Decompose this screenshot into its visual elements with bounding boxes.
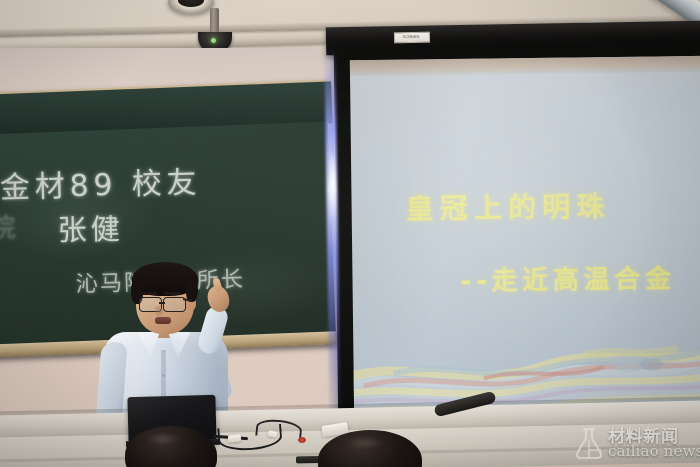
audience-head-highlight [146, 432, 180, 446]
chalk-piece [228, 434, 242, 442]
red-marker-cap [298, 437, 306, 443]
blackboard-ghost-text: 院 [0, 207, 19, 245]
light-leak-core [330, 150, 336, 220]
shirt-button [162, 374, 165, 377]
blackboard-line-1: 金材89 校友 [0, 157, 202, 207]
eyeglasses-bridge [159, 302, 165, 304]
watermark-sub: NEWS [578, 457, 592, 462]
projection-screen: 皇冠上的明珠 --走近高温合金 [350, 56, 700, 418]
blackboard-line-2: 张健 [57, 206, 124, 249]
speaker-mouth [155, 317, 171, 324]
watermark: 材料新闻 cailiao news NEWS [572, 424, 700, 464]
speaker-nose [155, 306, 163, 316]
flask-icon [572, 426, 606, 460]
speaker-eyebrow-left [140, 292, 157, 295]
camera-led-indicator [211, 38, 216, 43]
watermark-english: cailiao news [608, 442, 700, 460]
audience-head-highlight [348, 436, 384, 450]
speaker-eyebrow-right [164, 292, 181, 295]
screen-label-text: SCREEN [396, 33, 426, 41]
classroom-lecture-photo: 院 金材89 校友 张健 沁马院所副所长 SCREEN 皇冠上的明珠 --走近高… [0, 0, 700, 467]
camera-mount [210, 8, 219, 34]
screen-vignette [350, 56, 700, 418]
